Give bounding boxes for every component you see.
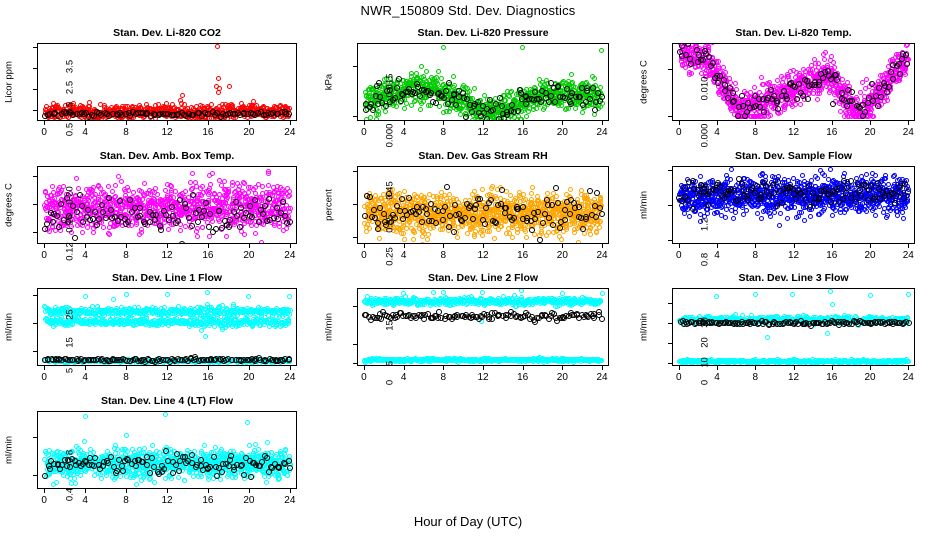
panel-title: Stan. Dev. Li-820 CO2	[37, 27, 297, 39]
data-point	[110, 189, 115, 194]
data-point	[830, 101, 836, 107]
data-point	[761, 109, 767, 115]
data-point	[472, 234, 477, 239]
x-tick-label: 24	[276, 250, 304, 261]
data-point	[592, 107, 598, 113]
x-tick	[755, 121, 756, 125]
data-point	[768, 113, 773, 118]
data-point	[577, 94, 583, 100]
x-tick-label: 8	[112, 250, 140, 261]
data-point	[207, 234, 212, 239]
data-point	[426, 232, 431, 237]
data-point	[424, 69, 429, 74]
data-point	[831, 60, 836, 65]
data-point	[101, 225, 106, 230]
x-tick	[562, 121, 563, 125]
data-point	[137, 213, 143, 219]
data-point	[888, 69, 894, 75]
data-point	[569, 72, 574, 77]
data-point	[178, 228, 183, 233]
x-tick-label: 12	[780, 127, 808, 138]
data-point	[599, 94, 605, 100]
data-point	[480, 233, 485, 238]
data-point	[568, 101, 574, 107]
data-point	[166, 227, 171, 232]
data-point	[530, 185, 535, 190]
x-tick	[523, 121, 524, 125]
data-point	[227, 84, 232, 89]
x-tick-label: 0	[30, 127, 58, 138]
x-tick	[443, 121, 444, 125]
data-point	[878, 94, 884, 100]
data-point	[86, 198, 91, 203]
x-tick-label: 20	[856, 127, 884, 138]
data-point	[253, 231, 258, 236]
data-point	[163, 188, 168, 193]
data-point	[50, 184, 55, 189]
data-point	[252, 197, 258, 203]
data-point	[467, 120, 472, 121]
x-tick-label: 24	[276, 127, 304, 138]
x-tick-label: 0	[30, 250, 58, 261]
data-point	[489, 120, 494, 121]
data-point	[425, 237, 430, 242]
data-point	[169, 204, 175, 210]
y-tick-label: 0.000	[700, 116, 711, 156]
data-point	[903, 72, 908, 77]
data-point	[552, 99, 558, 105]
data-point	[409, 71, 414, 76]
data-point	[374, 117, 379, 121]
x-tick-label: 12	[153, 250, 181, 261]
data-point	[251, 99, 256, 104]
data-point	[183, 189, 188, 194]
data-point	[259, 240, 264, 244]
y-tick	[33, 204, 37, 205]
data-point	[107, 232, 112, 237]
panel-title: Stan. Dev. Li-820 Pressure	[357, 27, 609, 39]
data-point	[580, 110, 585, 115]
x-tick	[870, 121, 871, 125]
data-point	[42, 226, 48, 232]
data-point	[509, 89, 514, 94]
data-point	[716, 59, 721, 64]
data-point	[233, 199, 239, 205]
x-tick-label: 12	[469, 127, 497, 138]
data-point	[472, 86, 477, 91]
x-tick	[290, 121, 291, 125]
y-tick	[33, 47, 37, 48]
x-tick	[85, 121, 86, 125]
data-point	[140, 197, 145, 202]
x-tick	[483, 121, 484, 125]
x-tick-label: 16	[194, 127, 222, 138]
y-tick	[33, 232, 37, 233]
data-point	[436, 69, 441, 74]
y-tick	[668, 116, 672, 117]
data-point	[287, 219, 293, 225]
data-point	[377, 236, 382, 241]
data-point	[367, 226, 372, 231]
data-point	[598, 85, 603, 90]
y-tick	[33, 68, 37, 69]
data-point	[76, 186, 81, 191]
y-tick	[353, 66, 357, 67]
x-tick-label: 0	[350, 127, 378, 138]
data-point	[439, 76, 444, 81]
data-point	[280, 199, 286, 205]
data-point	[752, 85, 757, 90]
data-point	[487, 97, 493, 103]
y-tick-label: 0.20	[65, 176, 76, 216]
data-point	[247, 203, 253, 209]
data-point	[805, 96, 811, 102]
data-point	[487, 229, 492, 234]
data-point	[759, 75, 764, 80]
data-point	[905, 43, 910, 47]
panel-title: Stan. Dev. Li-820 Temp.	[672, 27, 915, 39]
data-point	[126, 188, 131, 193]
data-point	[840, 77, 845, 82]
plot-area-3	[37, 166, 297, 244]
y-tick-label: 0.015	[385, 65, 396, 105]
x-tick	[126, 121, 127, 125]
x-tick-label: 20	[235, 250, 263, 261]
x-tick-label: 12	[153, 127, 181, 138]
data-point	[402, 106, 407, 111]
x-tick-label: 20	[235, 127, 263, 138]
data-point	[158, 227, 164, 233]
data-point	[412, 230, 417, 235]
data-point	[402, 237, 407, 242]
data-point	[710, 60, 716, 66]
data-point	[441, 45, 446, 50]
data-point	[383, 109, 388, 114]
data-point	[796, 81, 802, 87]
data-point	[237, 224, 243, 230]
y-tick	[353, 116, 357, 117]
x-tick	[602, 121, 603, 125]
y-axis-label: degrees C	[4, 183, 15, 227]
x-tick	[290, 244, 291, 248]
data-point	[735, 113, 741, 119]
data-point	[179, 241, 185, 244]
data-point	[822, 57, 827, 62]
panel-title: Stan. Dev. Line 4 (LT) Flow	[37, 395, 297, 407]
data-point	[592, 112, 597, 117]
data-point	[739, 93, 745, 99]
y-axis-label: kPa	[324, 74, 335, 90]
data-point	[464, 96, 470, 102]
data-point	[246, 190, 251, 195]
data-point	[370, 107, 376, 113]
data-point	[465, 231, 470, 236]
data-point	[823, 50, 828, 55]
data-point	[113, 183, 118, 188]
data-point	[869, 107, 874, 112]
data-point	[80, 230, 85, 235]
data-point	[700, 57, 706, 63]
data-point	[260, 211, 266, 217]
data-point	[539, 231, 544, 236]
data-point	[685, 43, 691, 47]
figure-title: NWR_150809 Std. Dev. Diagnostics	[0, 3, 936, 18]
data-point	[266, 169, 271, 174]
plot-area-0	[37, 43, 297, 121]
y-tick-label: 0.000	[385, 115, 396, 155]
x-tick	[404, 121, 405, 125]
data-point	[816, 61, 821, 66]
data-point	[224, 234, 229, 239]
data-point	[524, 114, 529, 119]
data-point	[555, 84, 561, 90]
diagnostics-figure: NWR_150809 Std. Dev. Diagnostics Hour of…	[0, 0, 936, 540]
data-point	[207, 211, 213, 217]
data-point	[513, 120, 519, 121]
x-tick	[208, 244, 209, 248]
figure-xaxis-label: Hour of Day (UTC)	[0, 514, 936, 529]
y-tick	[668, 69, 672, 70]
data-point	[524, 235, 529, 240]
data-point	[284, 226, 289, 231]
x-tick-label: 8	[741, 127, 769, 138]
data-point	[199, 214, 205, 220]
x-tick	[249, 121, 250, 125]
data-point	[108, 207, 114, 213]
data-point	[226, 224, 232, 230]
data-point	[455, 235, 460, 240]
data-point	[58, 201, 64, 207]
data-point	[215, 44, 220, 49]
x-tick	[208, 121, 209, 125]
data-point	[419, 64, 424, 69]
data-point	[730, 90, 736, 96]
x-tick-label: 24	[588, 127, 616, 138]
data-point	[774, 98, 780, 104]
data-point	[782, 107, 787, 112]
data-point	[210, 171, 215, 176]
data-point	[117, 198, 123, 204]
data-point	[288, 206, 293, 211]
data-point	[409, 103, 414, 108]
x-tick	[832, 121, 833, 125]
data-point	[195, 234, 200, 239]
data-point	[904, 61, 910, 67]
data-point	[213, 226, 219, 232]
x-tick	[249, 244, 250, 248]
data-point	[260, 184, 265, 189]
x-tick	[908, 121, 909, 125]
y-axis-label: Licor ppm	[4, 61, 15, 103]
data-point	[784, 96, 790, 102]
data-point	[510, 235, 515, 240]
data-point	[96, 184, 101, 189]
data-point	[480, 187, 485, 192]
data-point	[885, 98, 890, 103]
x-tick	[794, 121, 795, 125]
x-tick-label: 16	[194, 250, 222, 261]
y-tick	[33, 110, 37, 111]
y-tick	[33, 89, 37, 90]
data-point	[798, 102, 803, 107]
data-point	[463, 114, 469, 120]
data-point	[153, 186, 158, 191]
panel-title: Stan. Dev. Amb. Box Temp.	[37, 150, 297, 162]
data-point	[44, 221, 50, 227]
x-tick	[679, 121, 680, 125]
data-point	[871, 114, 876, 119]
data-point	[50, 219, 56, 225]
data-point	[119, 179, 124, 184]
x-tick	[167, 244, 168, 248]
data-point	[441, 95, 447, 101]
data-point	[116, 174, 121, 179]
data-point	[94, 222, 100, 228]
data-point	[208, 182, 213, 187]
data-point	[599, 48, 604, 53]
data-point	[520, 45, 525, 50]
x-tick-label: 20	[548, 127, 576, 138]
x-tick	[44, 244, 45, 248]
data-point	[216, 90, 221, 95]
data-point	[368, 115, 373, 120]
data-point	[134, 222, 139, 227]
data-point	[376, 112, 381, 117]
x-tick	[717, 121, 718, 125]
data-point	[216, 76, 221, 81]
data-point	[452, 83, 457, 88]
data-point	[401, 231, 406, 236]
data-point	[287, 193, 292, 198]
data-point	[190, 171, 195, 176]
data-point	[397, 191, 402, 196]
data-point	[418, 107, 423, 112]
data-point	[815, 97, 820, 102]
data-point	[689, 71, 694, 76]
panel-title: Stan. Dev. Line 1 Flow	[37, 272, 297, 284]
data-point	[286, 111, 292, 117]
y-tick-label: 3.5	[65, 46, 76, 86]
y-tick-label: 0.010	[700, 68, 711, 108]
data-point	[484, 116, 490, 121]
data-point	[242, 232, 247, 237]
data-point	[492, 236, 497, 241]
data-point	[413, 98, 418, 103]
data-point	[529, 191, 534, 196]
data-point	[864, 77, 869, 82]
data-point	[411, 237, 416, 242]
data-point	[90, 216, 96, 222]
x-tick	[85, 244, 86, 248]
data-point	[131, 190, 136, 195]
data-point	[428, 90, 434, 96]
x-tick	[364, 121, 365, 125]
data-point	[446, 80, 452, 86]
data-point	[56, 224, 62, 230]
data-point	[886, 84, 892, 90]
data-point	[443, 88, 449, 94]
x-tick-label: 8	[112, 127, 140, 138]
x-tick	[126, 244, 127, 248]
x-tick-label: 16	[509, 127, 537, 138]
x-tick-label: 8	[429, 127, 457, 138]
data-point	[47, 229, 52, 234]
data-point	[200, 225, 205, 230]
data-point	[142, 181, 147, 186]
x-tick	[44, 121, 45, 125]
data-point	[137, 205, 143, 211]
data-point	[420, 242, 425, 245]
data-point	[249, 214, 255, 220]
y-tick	[33, 176, 37, 177]
data-point	[733, 81, 738, 86]
x-tick	[167, 121, 168, 125]
data-point	[499, 103, 505, 109]
data-point	[222, 179, 227, 184]
data-point	[203, 200, 209, 206]
data-point	[829, 54, 834, 59]
data-point	[171, 195, 176, 200]
data-point	[688, 61, 694, 67]
data-point	[451, 74, 456, 79]
data-point	[103, 215, 109, 221]
x-tick-label: 0	[665, 127, 693, 138]
data-point	[592, 76, 597, 81]
data-point	[127, 197, 133, 203]
data-point	[402, 189, 407, 194]
x-tick-label: 16	[818, 127, 846, 138]
data-point	[139, 227, 144, 232]
x-tick-label: 24	[894, 127, 922, 138]
y-axis-label: degrees C	[639, 60, 650, 104]
